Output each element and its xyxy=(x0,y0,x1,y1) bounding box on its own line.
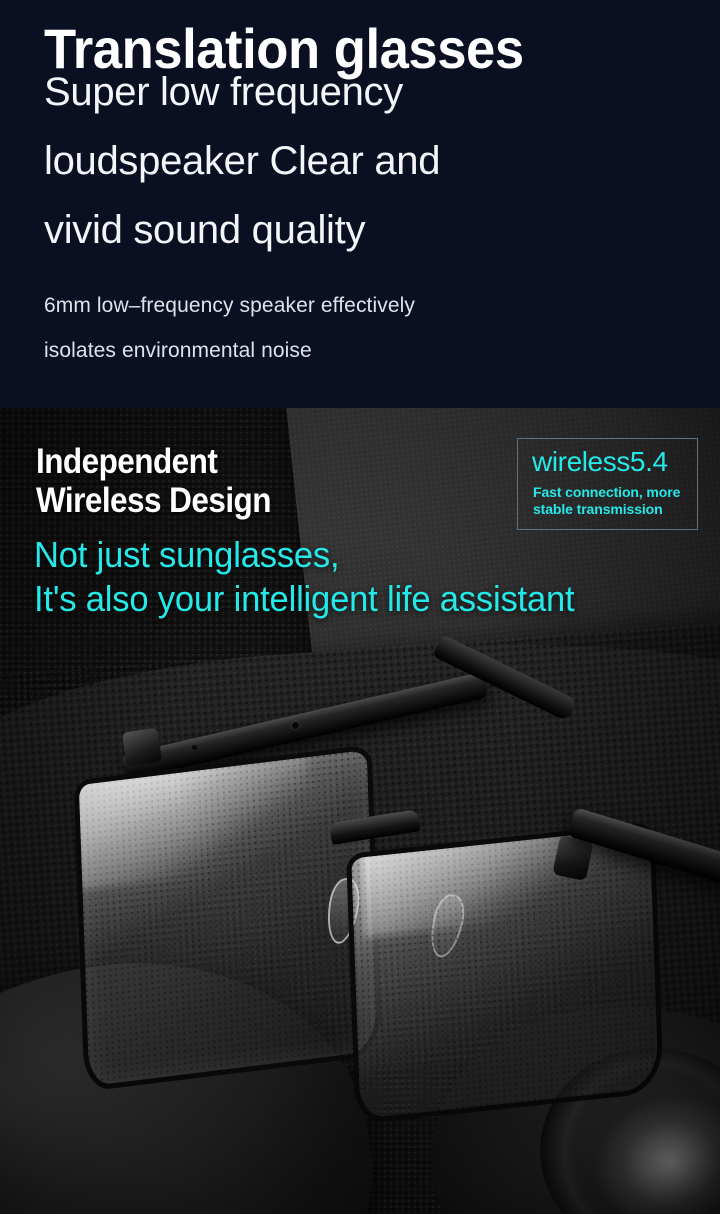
wireless-version-badge: wireless5.4 Fast connection, more stable… xyxy=(517,438,698,530)
glasses-lens-right xyxy=(346,822,664,1125)
feature-tagline: Not just sunglasses, It's also your inte… xyxy=(34,533,574,621)
hero-description: 6mm low–frequency speaker effectively is… xyxy=(44,283,644,373)
feature-heading-line-1: Independent xyxy=(36,442,271,481)
glasses-hinge-left xyxy=(122,728,162,767)
feature-tagline-line-1: Not just sunglasses, xyxy=(34,533,574,577)
wireless-badge-title: wireless5.4 xyxy=(532,445,668,479)
feature-tagline-line-2: It's also your intelligent life assistan… xyxy=(34,577,574,621)
wireless-badge-subtitle-line-1: Fast connection, more xyxy=(533,484,680,501)
hero-headline: Super low frequency loudspeaker Clear an… xyxy=(44,58,684,265)
hero-section: Translation glasses Super low frequency … xyxy=(0,0,720,408)
glasses-sensor-port xyxy=(192,745,197,750)
feature-section: Independent Wireless Design Not just sun… xyxy=(0,408,720,1214)
hero-description-line-2: isolates environmental noise xyxy=(44,328,644,373)
feature-heading: Independent Wireless Design xyxy=(36,442,271,520)
hero-headline-line-2: loudspeaker Clear and xyxy=(44,127,684,196)
feature-heading-line-2: Wireless Design xyxy=(36,481,271,520)
product-detail-page: Translation glasses Super low frequency … xyxy=(0,0,720,1214)
hero-headline-line-1: Super low frequency xyxy=(44,58,684,127)
hero-description-line-1: 6mm low–frequency speaker effectively xyxy=(44,283,644,328)
wireless-badge-subtitle-line-2: stable transmission xyxy=(533,501,680,518)
wireless-badge-subtitle: Fast connection, more stable transmissio… xyxy=(533,484,680,518)
hero-headline-line-3: vivid sound quality xyxy=(44,196,684,265)
